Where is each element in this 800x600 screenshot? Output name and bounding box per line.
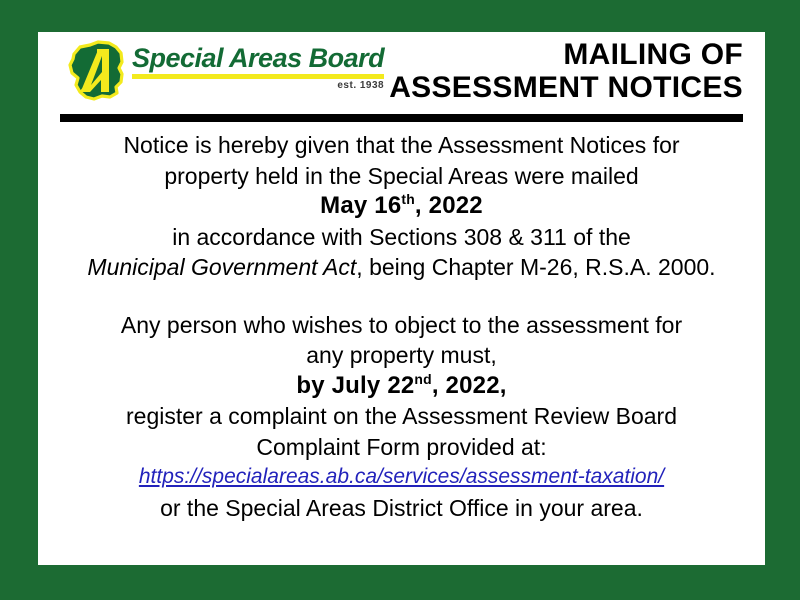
objection-line-4: register a complaint on the Assessment R… [60,401,743,432]
special-areas-board-logo-icon [64,40,128,102]
mailing-date-year: , 2022 [415,192,483,219]
mailing-line-2: property held in the Special Areas were … [60,161,743,192]
brand-lockup: Special Areas Board est. 1938 [64,40,384,102]
deadline-year: , 2022 [432,372,500,399]
objection-line-5: Complaint Form provided at: [60,432,743,463]
page-title-line-2: ASSESSMENT NOTICES [389,71,743,104]
paragraph-mailing: Notice is hereby given that the Assessme… [60,130,743,283]
page-title-line-1: MAILING OF [389,38,743,71]
poster-green-frame: Special Areas Board est. 1938 MAILING OF… [0,0,800,600]
wordmark-underline-rule [132,74,384,79]
deadline-prefix: by July 22 [296,372,414,399]
wordmark-group: Special Areas Board est. 1938 [132,40,384,92]
notice-sheet: Special Areas Board est. 1938 MAILING OF… [38,32,765,565]
paragraph-objection: Any person who wishes to object to the a… [60,310,743,524]
objection-deadline: by July 22nd, 2022, [60,371,743,402]
wordmark-established-text: est. 1938 [337,80,384,92]
wordmark-text: Special Areas Board [132,44,384,73]
mailing-line-1: Notice is hereby given that the Assessme… [60,130,743,161]
mailing-date-ordinal: th [401,191,415,207]
deadline-suffix: , [500,372,507,399]
header-divider-rule [60,114,743,122]
objection-line-2: any property must, [60,340,743,371]
mailing-date: May 16th, 2022 [60,191,743,222]
act-citation-rest: , being Chapter M-26, R.S.A. 2000. [356,254,715,280]
assessment-taxation-link[interactable]: https://specialareas.ab.ca/services/asse… [60,462,743,493]
notice-body: Notice is hereby given that the Assessme… [60,130,743,523]
mailing-line-5: Municipal Government Act, being Chapter … [60,252,743,283]
notice-header: Special Areas Board est. 1938 MAILING OF… [38,32,765,108]
paragraph-spacer [60,283,743,310]
page-title: MAILING OF ASSESSMENT NOTICES [389,38,743,104]
mailing-date-monthday: May 16 [320,192,401,219]
mailing-line-4: in accordance with Sections 308 & 311 of… [60,222,743,253]
act-name-italic: Municipal Government Act [87,254,356,280]
objection-line-1: Any person who wishes to object to the a… [60,310,743,341]
objection-line-7: or the Special Areas District Office in … [60,493,743,524]
deadline-ordinal: nd [414,371,431,387]
